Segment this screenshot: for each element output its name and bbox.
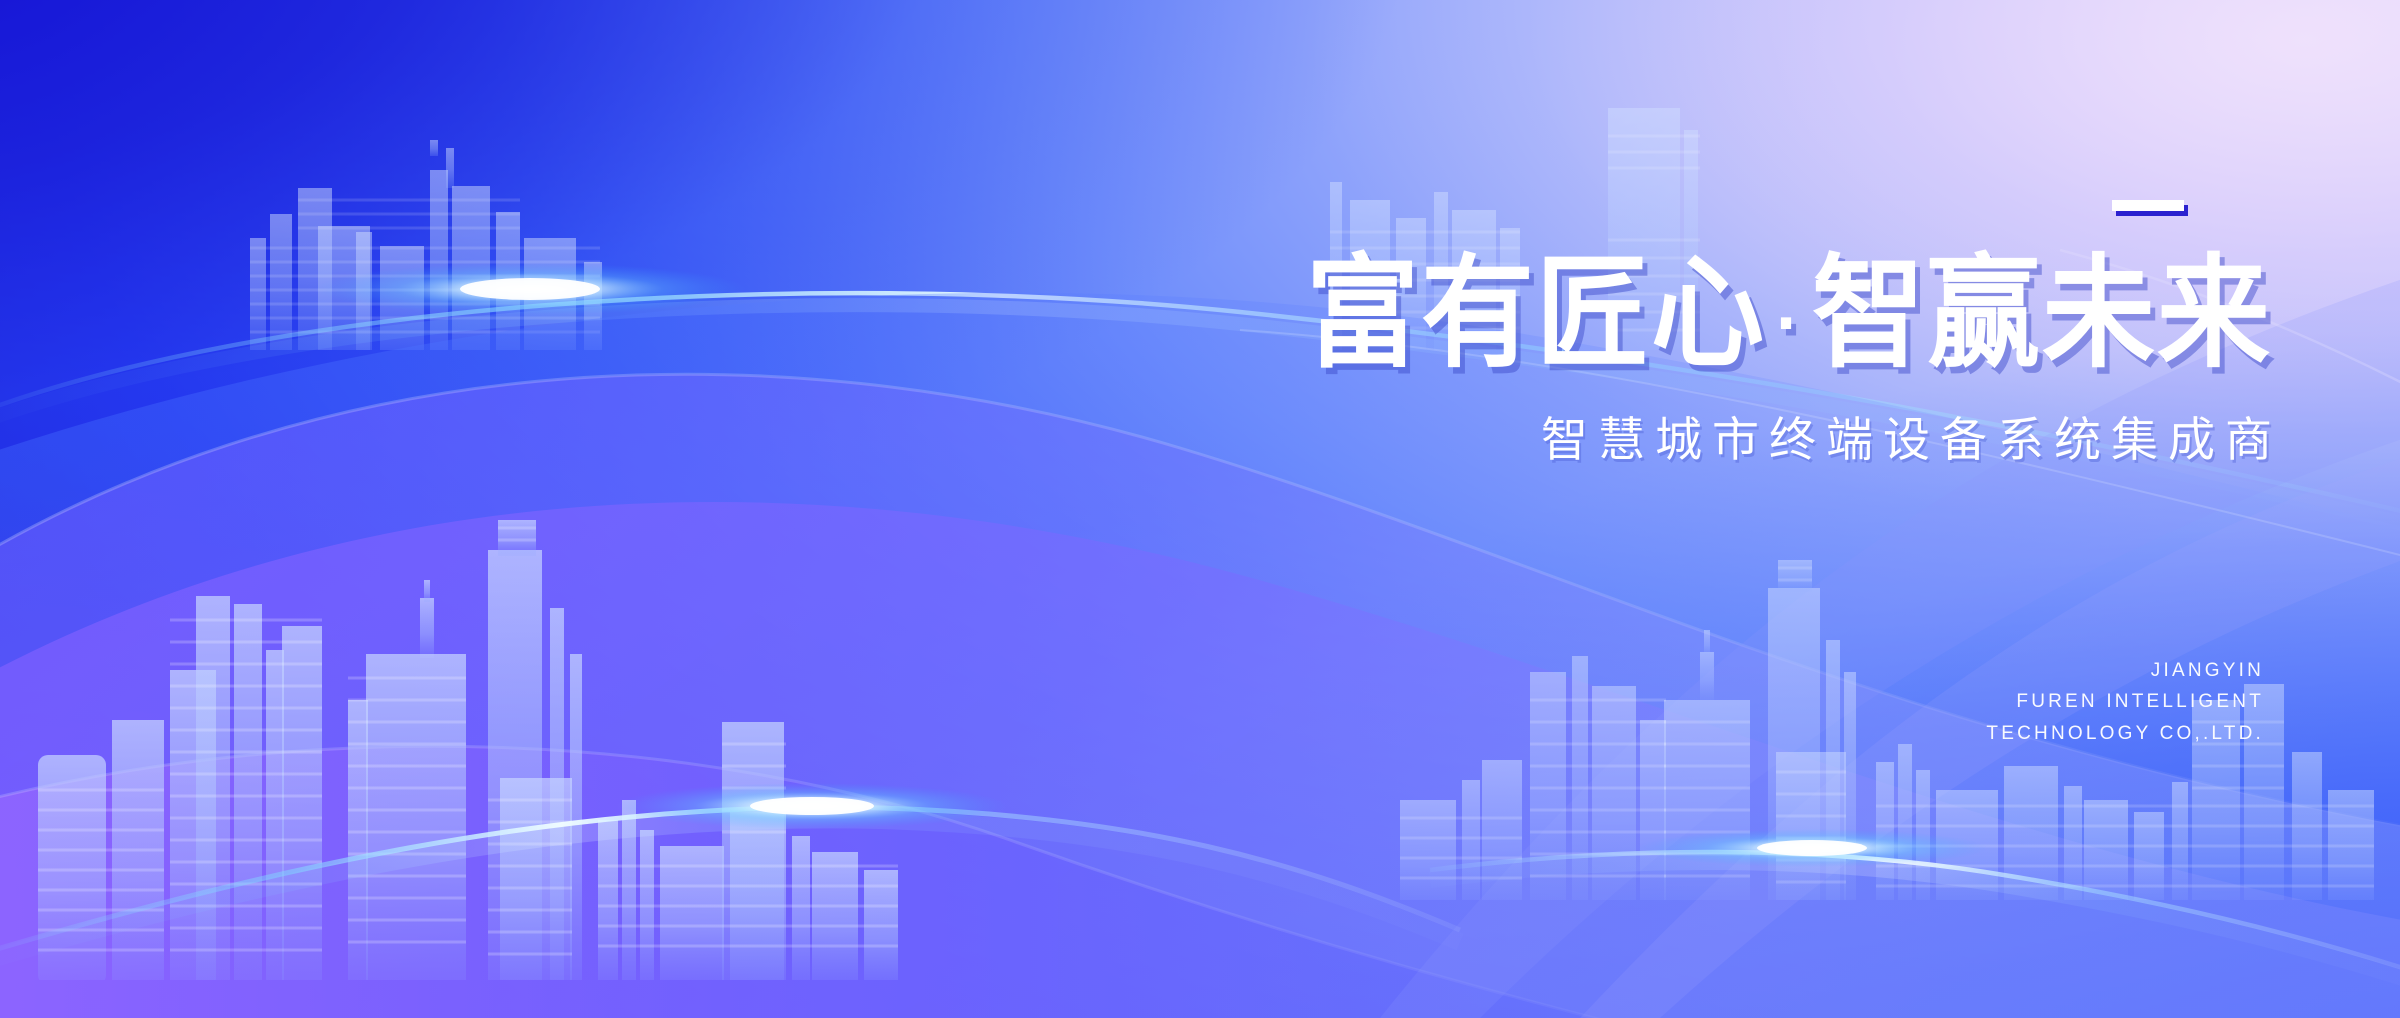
poster-canvas: 富有匠心·智赢未来 智慧城市终端设备系统集成商 JIANGYIN FUREN I… bbox=[0, 0, 2400, 1018]
lower-glow-arcs bbox=[0, 0, 2400, 1018]
